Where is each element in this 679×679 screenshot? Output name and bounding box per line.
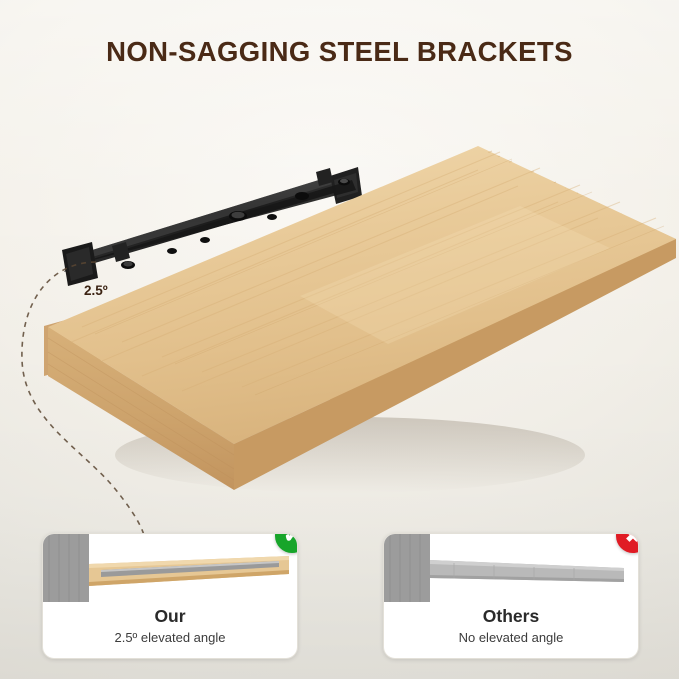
others-title: Others [384,606,638,627]
others-subtitle: No elevated angle [384,630,638,645]
comparison-card-others[interactable]: Others No elevated angle ✖ [383,533,639,659]
our-caption: Our 2.5º elevated angle [43,602,297,645]
our-cross-section-image [43,534,297,602]
comparison-card-our[interactable]: Our 2.5º elevated angle ✔ [42,533,298,659]
our-subtitle: 2.5º elevated angle [43,630,297,645]
elevated-angle-label: 2.5º [84,283,108,298]
our-title: Our [43,606,297,627]
product-infographic: NON-SAGGING STEEL BRACKETS [0,0,679,679]
others-caption: Others No elevated angle [384,602,638,645]
others-cross-section-image [384,534,638,602]
